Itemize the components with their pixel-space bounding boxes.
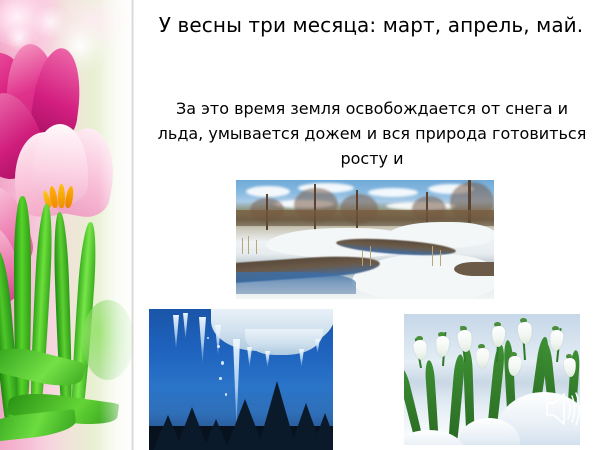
conifer-tree <box>225 399 265 450</box>
icicle <box>315 339 320 353</box>
icicle <box>215 325 221 355</box>
icicle <box>299 349 304 367</box>
snowdrop-leaf <box>424 360 439 440</box>
speaker-icon[interactable] <box>543 388 583 430</box>
water-drip <box>219 377 222 380</box>
icicle <box>183 313 188 339</box>
conifer-tree <box>257 381 297 450</box>
water-drip <box>207 337 209 339</box>
band-fade-overlay <box>99 0 141 450</box>
reeds <box>242 238 243 254</box>
snowdrop-flower <box>475 347 490 368</box>
roof-ice-mass <box>245 329 323 355</box>
reeds <box>256 240 257 254</box>
snowdrop-leaf <box>404 367 423 439</box>
icicle <box>173 315 179 349</box>
snowdrop-flower <box>507 355 522 376</box>
icicle <box>247 347 252 367</box>
tulip-stamen <box>58 184 65 208</box>
band-divider-line <box>131 0 134 450</box>
tulip-border-photo <box>0 0 141 450</box>
reeds <box>248 236 249 254</box>
icicle <box>199 317 206 363</box>
cloud <box>368 188 418 197</box>
water-drip <box>221 361 224 365</box>
presentation-slide: У весны три месяца: март, апрель, май. З… <box>0 0 600 450</box>
icicles-image[interactable] <box>149 309 333 450</box>
bank-edge <box>454 262 494 276</box>
spring-thaw-landscape-image[interactable] <box>236 180 494 299</box>
slide-body-text: За это время земля освобождается от снег… <box>152 96 592 171</box>
cloud <box>246 186 290 197</box>
water-drip <box>217 345 220 348</box>
audio-speaker-control[interactable] <box>543 388 583 430</box>
icicle <box>233 339 240 427</box>
meltwater <box>236 272 356 294</box>
reeds <box>370 246 371 266</box>
icicle <box>265 351 270 367</box>
reeds <box>362 250 363 266</box>
reeds <box>432 246 433 266</box>
slide-title: У весны три месяца: март, апрель, май. <box>150 12 592 38</box>
reeds <box>440 250 441 266</box>
water-drip <box>225 393 227 396</box>
